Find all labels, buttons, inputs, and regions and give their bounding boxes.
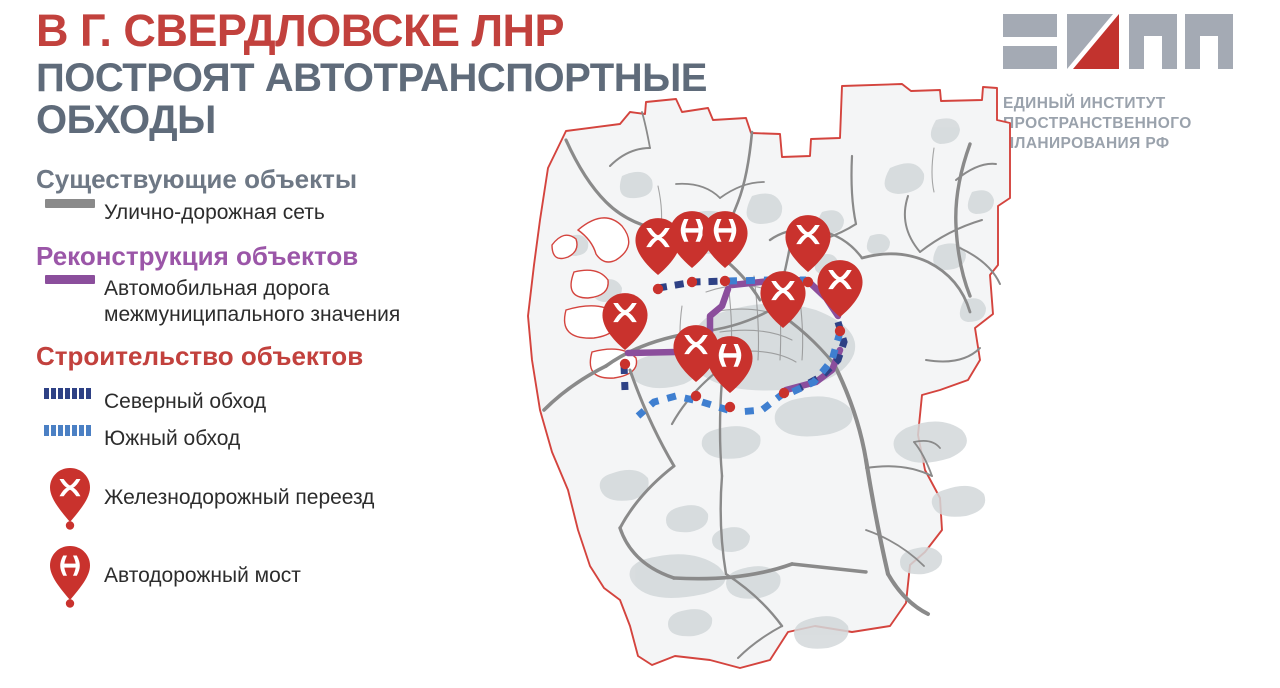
legend-swatch-solid-purple xyxy=(36,275,104,284)
solid-line-icon xyxy=(45,199,95,208)
solid-line-icon xyxy=(45,275,95,284)
legend-item-railway-crossing: Железнодорожный переезд xyxy=(36,466,516,530)
spacer xyxy=(36,328,516,342)
legend-heading-reconstruction: Реконструкция объектов xyxy=(36,242,516,272)
infographic-root: В Г. СВЕРДЛОВСКЕ ЛНР ПОСТРОЯТ АВТОТРАНСП… xyxy=(0,0,1280,688)
map-svg xyxy=(470,60,1090,688)
spacer xyxy=(36,226,516,242)
legend-heading-existing: Существующие объекты xyxy=(36,165,516,195)
legend-swatch-pin-bridge xyxy=(36,544,104,608)
legend-label: Автодорожный мост xyxy=(104,562,301,589)
legend-swatch-dashed-navy xyxy=(36,388,104,399)
legend-item-intermunicipal-road: Автомобильная дорога межмуниципального з… xyxy=(36,275,516,327)
legend-label: Северный обход xyxy=(104,388,266,415)
legend-item-northern-bypass: Северный обход xyxy=(36,388,516,415)
dashed-line-icon xyxy=(44,388,96,399)
legend-heading-construction: Строительство объектов xyxy=(36,342,516,372)
page-title-primary: В Г. СВЕРДЛОВСКЕ ЛНР xyxy=(36,8,856,53)
map-pin-railway-crossing-icon xyxy=(48,466,92,530)
legend-label: Железнодорожный переезд xyxy=(104,484,374,511)
legend-swatch-dashed-blue xyxy=(36,425,104,436)
legend-swatch-pin-railway xyxy=(36,466,104,530)
legend-item-road-bridge: Автодорожный мост xyxy=(36,544,516,608)
spacer xyxy=(36,376,516,386)
legend-label: Автомобильная дорога межмуниципального з… xyxy=(104,275,516,327)
legend: Существующие объекты Улично-дорожная сет… xyxy=(36,165,516,608)
legend-label: Улично-дорожная сеть xyxy=(104,199,325,226)
legend-swatch-solid-gray xyxy=(36,199,104,208)
legend-item-southern-bypass: Южный обход xyxy=(36,425,516,452)
legend-label: Южный обход xyxy=(104,425,240,452)
legend-item-street-road-network: Улично-дорожная сеть xyxy=(36,199,516,226)
map-pin-road-bridge-icon xyxy=(48,544,92,608)
dashed-line-icon xyxy=(44,425,96,436)
map-figure xyxy=(470,60,1090,688)
